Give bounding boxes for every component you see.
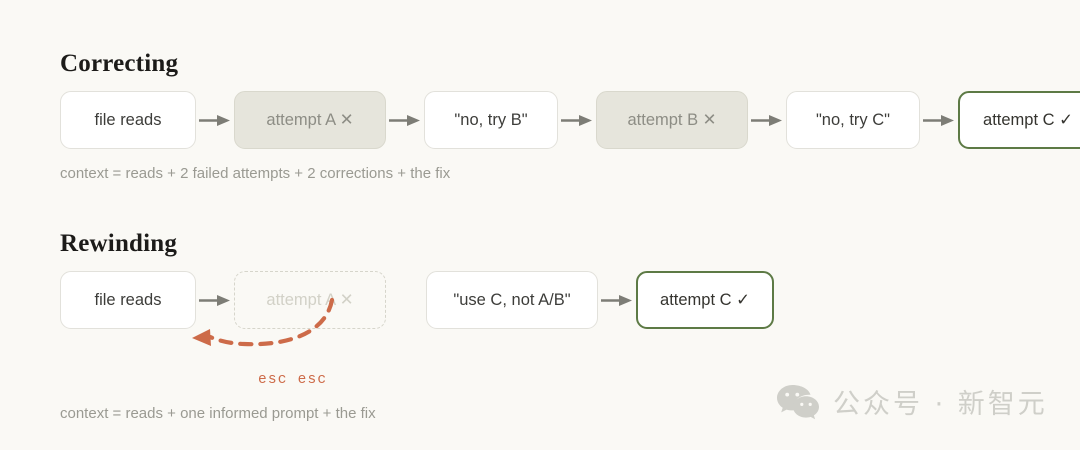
section-title-rewinding: Rewinding	[60, 230, 177, 258]
arrow-right-icon	[920, 113, 958, 127]
flow-row-correcting: file reads attempt A ✕ "no, try B" attem…	[60, 91, 1080, 149]
node-attempt-c-success-correcting: attempt C ✓	[958, 91, 1080, 149]
diagram-canvas: Correcting file reads attempt A ✕ "no, t…	[0, 0, 1080, 450]
node-attempt-b-failed: attempt B ✕	[596, 91, 748, 149]
node-attempt-a-failed: attempt A ✕	[234, 91, 386, 149]
section-title-correcting: Correcting	[60, 50, 178, 78]
arrow-right-icon	[598, 293, 636, 307]
node-correction-try-b: "no, try B"	[424, 91, 558, 149]
arrow-right-icon	[196, 293, 234, 307]
node-informed-prompt: "use C, not A/B"	[426, 271, 598, 329]
arrow-right-icon	[386, 113, 424, 127]
arrow-right-icon	[748, 113, 786, 127]
node-correction-try-c: "no, try C"	[786, 91, 920, 149]
node-file-reads-correcting: file reads	[60, 91, 196, 149]
node-attempt-a-rewound: attempt A ✕	[234, 271, 386, 329]
arrow-right-icon	[558, 113, 596, 127]
rewind-key-label: esc esc	[258, 372, 327, 388]
caption-rewinding: context = reads + one informed prompt + …	[60, 405, 376, 422]
node-file-reads-rewinding: file reads	[60, 271, 196, 329]
watermark-text: 公众号 · 新智元	[833, 382, 1048, 421]
flow-row-rewinding: file reads attempt A ✕ "use C, not A/B" …	[60, 271, 774, 329]
watermark: 公众号 · 新智元	[776, 382, 1048, 421]
wechat-icon	[776, 383, 820, 421]
caption-correcting: context = reads + 2 failed attempts + 2 …	[60, 165, 450, 182]
node-attempt-c-success-rewinding: attempt C ✓	[636, 271, 774, 329]
arrow-right-icon	[196, 113, 234, 127]
